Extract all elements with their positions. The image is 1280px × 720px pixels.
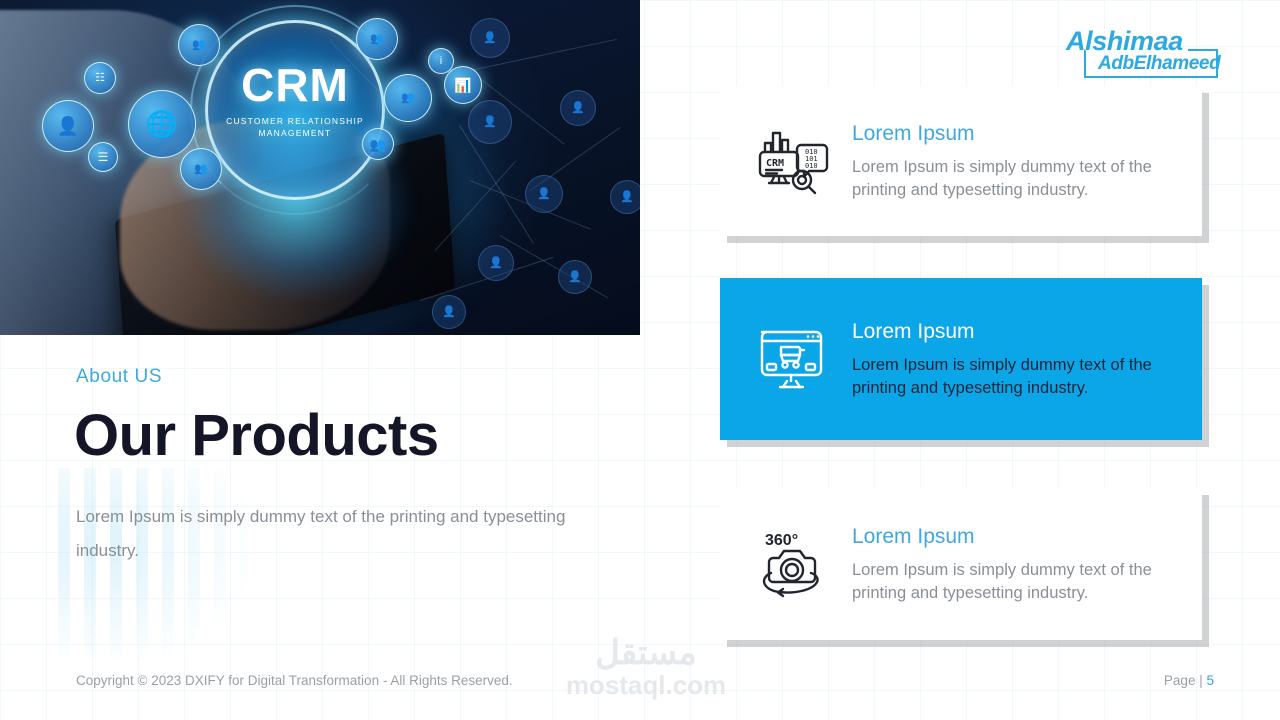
hero-bubble-flow-icon: ☷ [84,62,116,94]
page-lead-paragraph: Lorem Ipsum is simply dummy text of the … [76,500,606,568]
card-text: Lorem Ipsum is simply dummy text of the … [852,354,1180,400]
hero-bubble-support-agent-icon: 👤 [42,100,94,152]
camera-360-icon: 360° [738,528,848,600]
hero-bubble-persons-icon: 👥 [384,74,432,122]
card-title: Lorem Ipsum [852,319,1180,344]
product-card-2[interactable]: Lorem Ipsum Lorem Ipsum is simply dummy … [720,278,1202,440]
card-title: Lorem Ipsum [852,121,1180,146]
hero-bubble-analytics-icon: 📊 [444,66,482,104]
copyright-text: Copyright © 2023 DXIFY for Digital Trans… [76,673,513,688]
brand-logo: Alshimaa AdbElhameed [1060,22,1220,80]
ecommerce-monitor-icon [738,324,848,394]
hero-node-person: 👤 [432,295,466,329]
card-title: Lorem Ipsum [852,524,1180,549]
product-card-3[interactable]: 360° Lorem Ipsum Lorem Ipsum is simply d… [720,488,1202,640]
logo-frame-top-rule [1188,49,1218,51]
crm-title: CRM [205,62,385,108]
hero-bubble-team-icon: 👥 [178,24,220,66]
page-label: Page | [1164,673,1203,688]
logo-first-name: Alshimaa [1066,28,1183,55]
hero-image: 👤 👤 👤 👤 👤 👤 👤 👤 CRM CUSTOMER RELATIONSHI… [0,0,640,335]
svg-text:CRM: CRM [766,158,784,169]
svg-text:360°: 360° [765,532,798,549]
hero-bubble-group-icon: 👥 [356,18,398,60]
page-number: Page | 5 [1164,673,1214,688]
hero-node-person: 👤 [558,260,592,294]
section-eyebrow: About US [76,366,162,388]
card-body: Lorem Ipsum Lorem Ipsum is simply dummy … [848,121,1180,202]
card-body: Lorem Ipsum Lorem Ipsum is simply dummy … [848,524,1180,605]
hero-bubble-meeting-icon: 👥 [362,128,394,160]
page-number-value: 5 [1206,673,1214,688]
card-text: Lorem Ipsum is simply dummy text of the … [852,559,1180,605]
crm-subtitle: CUSTOMER RELATIONSHIP MANAGEMENT [205,115,385,140]
hero-bubble-list-icon: ☰ [88,142,118,172]
hero-node-person: 👤 [525,175,563,213]
hero-node-person: 👤 [470,18,510,58]
hero-node-person: 👤 [560,90,596,126]
card-body: Lorem Ipsum Lorem Ipsum is simply dummy … [848,319,1180,400]
slide: 👤 👤 👤 👤 👤 👤 👤 👤 CRM CUSTOMER RELATIONSHI… [0,0,1280,720]
svg-text:010: 010 [805,162,818,170]
crm-label: CRM CUSTOMER RELATIONSHIP MANAGEMENT [205,62,385,140]
watermark-arabic: مستقل [556,636,736,670]
hero-bubble-globe-icon: 🌐 [128,90,196,158]
crm-subtitle-line-1: CUSTOMER RELATIONSHIP [226,116,364,126]
crm-subtitle-line-2: MANAGEMENT [259,128,332,138]
card-text: Lorem Ipsum is simply dummy text of the … [852,156,1180,202]
hero-bubble-people-icon: 👥 [180,148,222,190]
hero-node-person: 👤 [468,100,512,144]
logo-last-name: AdbElhameed [1098,54,1220,73]
crm-monitor-icon: CRM 010 101 010 [738,125,848,197]
mostaql-watermark: مستقل mostaql.com [556,636,736,699]
product-card-1[interactable]: CRM 010 101 010 Lorem Ipsum Lorem Ipsum … [720,86,1202,236]
hero-node-person: 👤 [478,245,514,281]
watermark-latin: mostaql.com [556,672,736,699]
page-title: Our Products [74,404,439,468]
hero-node-person: 👤 [610,180,640,214]
